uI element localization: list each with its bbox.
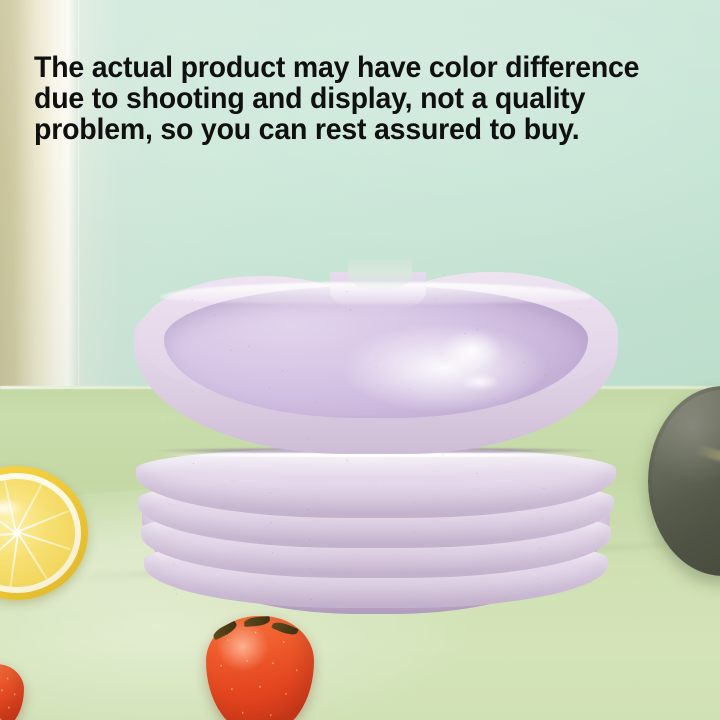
list-item <box>134 254 618 464</box>
disclaimer-caption: The actual product may have color differ… <box>34 52 686 145</box>
bowl-specular-highlight-secondary <box>452 370 508 394</box>
lemon-half <box>0 466 88 600</box>
lemon-gloss <box>0 493 31 523</box>
strawberry-partial <box>0 664 24 720</box>
product-image-canvas: The actual product may have color differ… <box>0 0 720 720</box>
strawberry <box>206 616 314 720</box>
heart-bowl-stack <box>128 246 624 582</box>
heart-cleft <box>348 260 412 290</box>
strawberry-seeds <box>0 664 24 720</box>
